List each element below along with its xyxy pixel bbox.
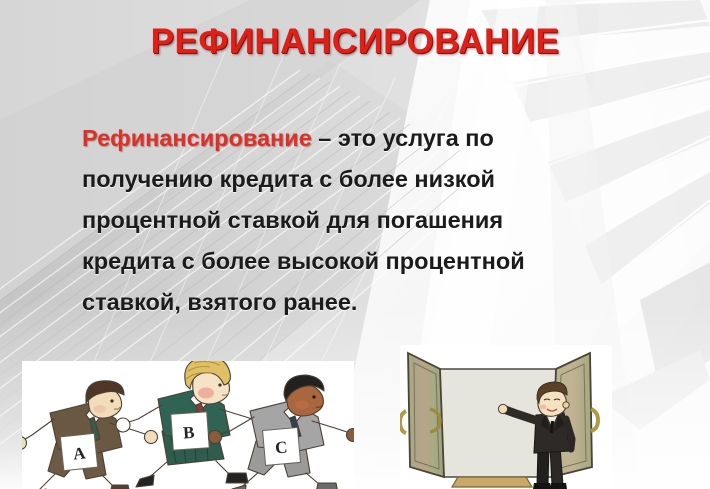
slide-canvas: РЕФИНАНСИРОВАНИЕ Рефинансирование – это … <box>0 0 710 489</box>
paragraph-line-1: Рефинансирование – это услуга по <box>82 118 642 159</box>
paragraph-line-1-rest: – это услуга по <box>312 125 494 151</box>
illustration-doors <box>400 345 612 489</box>
paragraph-line-3: процентной ставкой для погашения <box>82 200 642 241</box>
page-title: РЕФИНАНСИРОВАНИЕ <box>0 22 710 62</box>
paragraph-line-2: получению кредита с более низкой <box>82 159 642 200</box>
runner-bib-c: C <box>274 437 288 457</box>
door-threshold <box>452 477 532 487</box>
paragraph-line-5: ставкой, взятого ранее. <box>82 282 642 323</box>
runners-svg: .ink{stroke:#4a4034;stroke-width:1.1;str… <box>22 361 354 489</box>
doors-svg <box>400 345 612 489</box>
illustration-runners: .ink{stroke:#4a4034;stroke-width:1.1;str… <box>22 361 354 489</box>
term-highlight: Рефинансирование <box>82 125 312 151</box>
runner-bib-b: B <box>182 423 195 443</box>
paragraph-line-4: кредита с более высокой процентной <box>82 241 642 282</box>
definition-paragraph: Рефинансирование – это услуга по получен… <box>82 118 642 323</box>
